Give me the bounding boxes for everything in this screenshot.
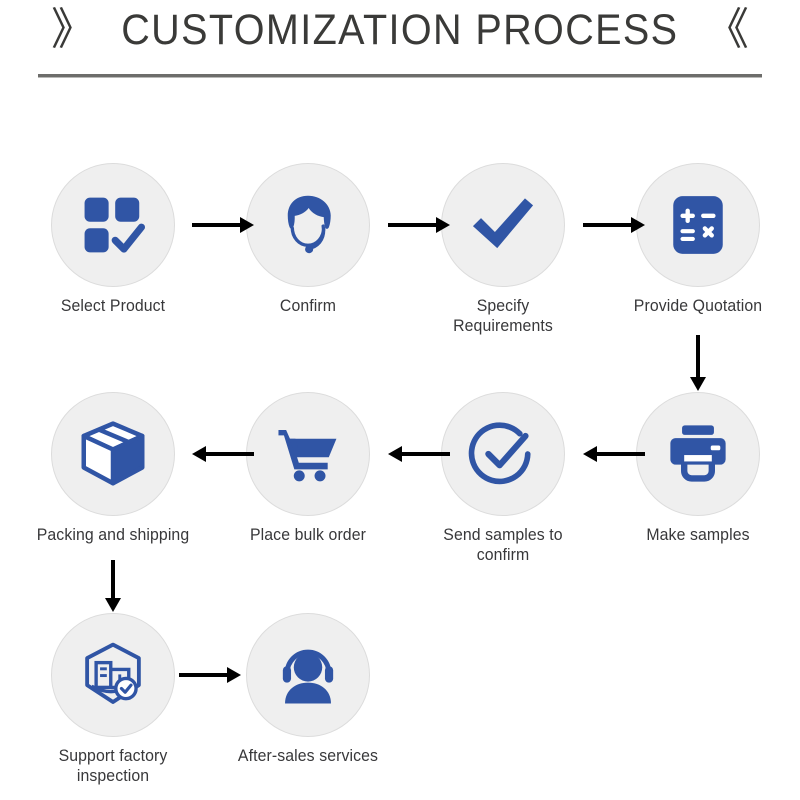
grid-check-icon — [51, 163, 175, 287]
step-node-send-samples-to-confirm[interactable]: Send samples to confirm — [423, 392, 583, 565]
step-label: Provide Quotation — [621, 296, 775, 316]
connector-arrow-left — [388, 445, 450, 463]
connector-arrow-right — [388, 216, 450, 234]
step-label: Place bulk order — [231, 525, 385, 545]
step-label: Make samples — [621, 525, 775, 545]
step-node-provide-quotation[interactable]: Provide Quotation — [618, 163, 778, 316]
step-label: Select Product — [36, 296, 190, 316]
connector-arrow-left — [192, 445, 254, 463]
step-node-after-sales-services[interactable]: After-sales services — [228, 613, 388, 766]
step-node-make-samples[interactable]: Make samples — [618, 392, 778, 545]
step-label: Confirm — [231, 296, 385, 316]
step-node-place-bulk-order[interactable]: Place bulk order — [228, 392, 388, 545]
connector-arrow-left — [583, 445, 645, 463]
connector-arrow-right — [583, 216, 645, 234]
support-person-icon — [246, 613, 370, 737]
printer-icon — [636, 392, 760, 516]
step-label: Packing and shipping — [36, 525, 190, 545]
connector-arrow-down — [104, 560, 122, 612]
calculator-icon — [636, 163, 760, 287]
step-label: After-sales services — [231, 746, 385, 766]
step-label: Send samples to confirm — [426, 525, 580, 565]
step-node-support-factory-inspection[interactable]: Support factory inspection — [33, 613, 193, 786]
step-node-packing-and-shipping[interactable]: Packing and shipping — [33, 392, 193, 545]
factory-shield-check-icon — [51, 613, 175, 737]
step-label: Support factory inspection — [36, 746, 190, 786]
step-node-select-product[interactable]: Select Product — [33, 163, 193, 316]
checkmark-icon — [441, 163, 565, 287]
step-node-confirm[interactable]: Confirm — [228, 163, 388, 316]
step-node-specify-requirements[interactable]: Specify Requirements — [423, 163, 583, 336]
headset-agent-icon — [246, 163, 370, 287]
connector-arrow-down — [689, 335, 707, 391]
circle-check-icon — [441, 392, 565, 516]
shopping-cart-icon — [246, 392, 370, 516]
connector-arrow-right — [192, 216, 254, 234]
step-label: Specify Requirements — [426, 296, 580, 336]
connector-arrow-right — [179, 666, 241, 684]
process-flow-diagram: Select Product Confirm Specify Requireme… — [0, 0, 800, 800]
package-box-icon — [51, 392, 175, 516]
